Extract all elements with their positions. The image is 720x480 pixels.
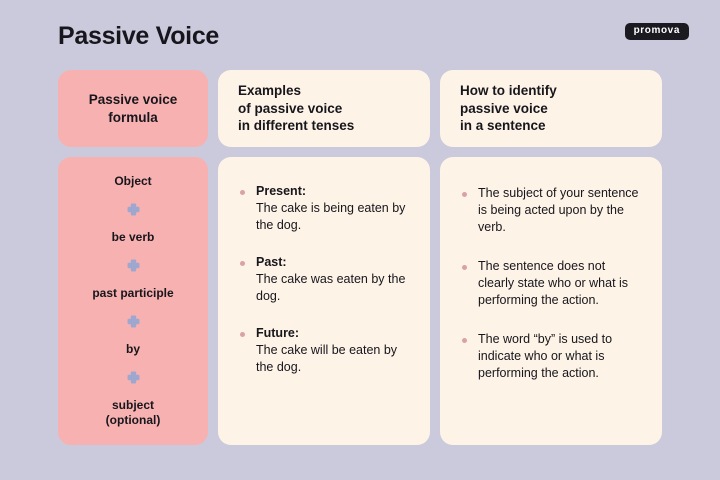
list-item: Past:The cake was eaten by the dog. — [240, 254, 410, 305]
list-item: The sentence does not clearly state who … — [462, 258, 642, 309]
bullet-text: The subject of your sentence is being ac… — [478, 185, 642, 236]
bullet-dot-icon — [462, 265, 467, 270]
list-item: The word “by” is used to indicate who or… — [462, 331, 642, 382]
column-examples-body-card: Present:The cake is being eaten by the d… — [218, 157, 430, 445]
list-item: Future:The cake will be eaten by the dog… — [240, 325, 410, 376]
list-item: The subject of your sentence is being ac… — [462, 185, 642, 236]
column-identify-header-card: How to identify passive voice in a sente… — [440, 70, 662, 147]
column-formula-header-text: Passive voice formula — [89, 91, 178, 127]
column-examples-header-text: Examples of passive voice in different t… — [238, 82, 354, 136]
bullet-dot-icon — [462, 192, 467, 197]
formula-term-past-participle: past participle — [92, 286, 173, 301]
formula-list: Object be verb past participle by — [58, 157, 208, 445]
formula-term-object: Object — [114, 174, 151, 189]
bullet-text: Present:The cake is being eaten by the d… — [256, 183, 410, 234]
bullet-dot-icon — [240, 190, 245, 195]
page-title: Passive Voice — [58, 22, 219, 51]
bullet-dot-icon — [462, 338, 467, 343]
identify-bullet-list: The subject of your sentence is being ac… — [440, 157, 662, 414]
plus-icon — [126, 314, 141, 329]
column-formula: Passive voice formula Object be verb pas… — [58, 70, 208, 445]
plus-icon — [126, 258, 141, 273]
column-identify-body-card: The subject of your sentence is being ac… — [440, 157, 662, 445]
examples-bullet-list: Present:The cake is being eaten by the d… — [218, 157, 430, 386]
column-examples: Examples of passive voice in different t… — [218, 70, 430, 445]
bullet-body: The cake will be eaten by the dog. — [256, 343, 397, 374]
bullet-text: Past:The cake was eaten by the dog. — [256, 254, 410, 305]
plus-icon — [126, 202, 141, 217]
brand-logo: promova — [625, 23, 689, 40]
plus-icon — [126, 370, 141, 385]
column-formula-body-card: Object be verb past participle by — [58, 157, 208, 445]
formula-term-subject: subject (optional) — [106, 398, 161, 428]
bullet-dot-icon — [240, 332, 245, 337]
column-formula-header-card: Passive voice formula — [58, 70, 208, 147]
bullet-text: Future:The cake will be eaten by the dog… — [256, 325, 410, 376]
formula-term-by: by — [126, 342, 140, 357]
bullet-label: Past: — [256, 254, 410, 271]
bullet-body: The cake is being eaten by the dog. — [256, 201, 405, 232]
bullet-label: Future: — [256, 325, 410, 342]
list-item: Present:The cake is being eaten by the d… — [240, 183, 410, 234]
column-examples-header-card: Examples of passive voice in different t… — [218, 70, 430, 147]
bullet-body: The cake was eaten by the dog. — [256, 272, 405, 303]
bullet-label: Present: — [256, 183, 410, 200]
bullet-text: The sentence does not clearly state who … — [478, 258, 642, 309]
formula-term-be-verb: be verb — [112, 230, 155, 245]
bullet-text: The word “by” is used to indicate who or… — [478, 331, 642, 382]
column-identify: How to identify passive voice in a sente… — [440, 70, 662, 445]
bullet-dot-icon — [240, 261, 245, 266]
column-identify-header-text: How to identify passive voice in a sente… — [460, 82, 557, 136]
